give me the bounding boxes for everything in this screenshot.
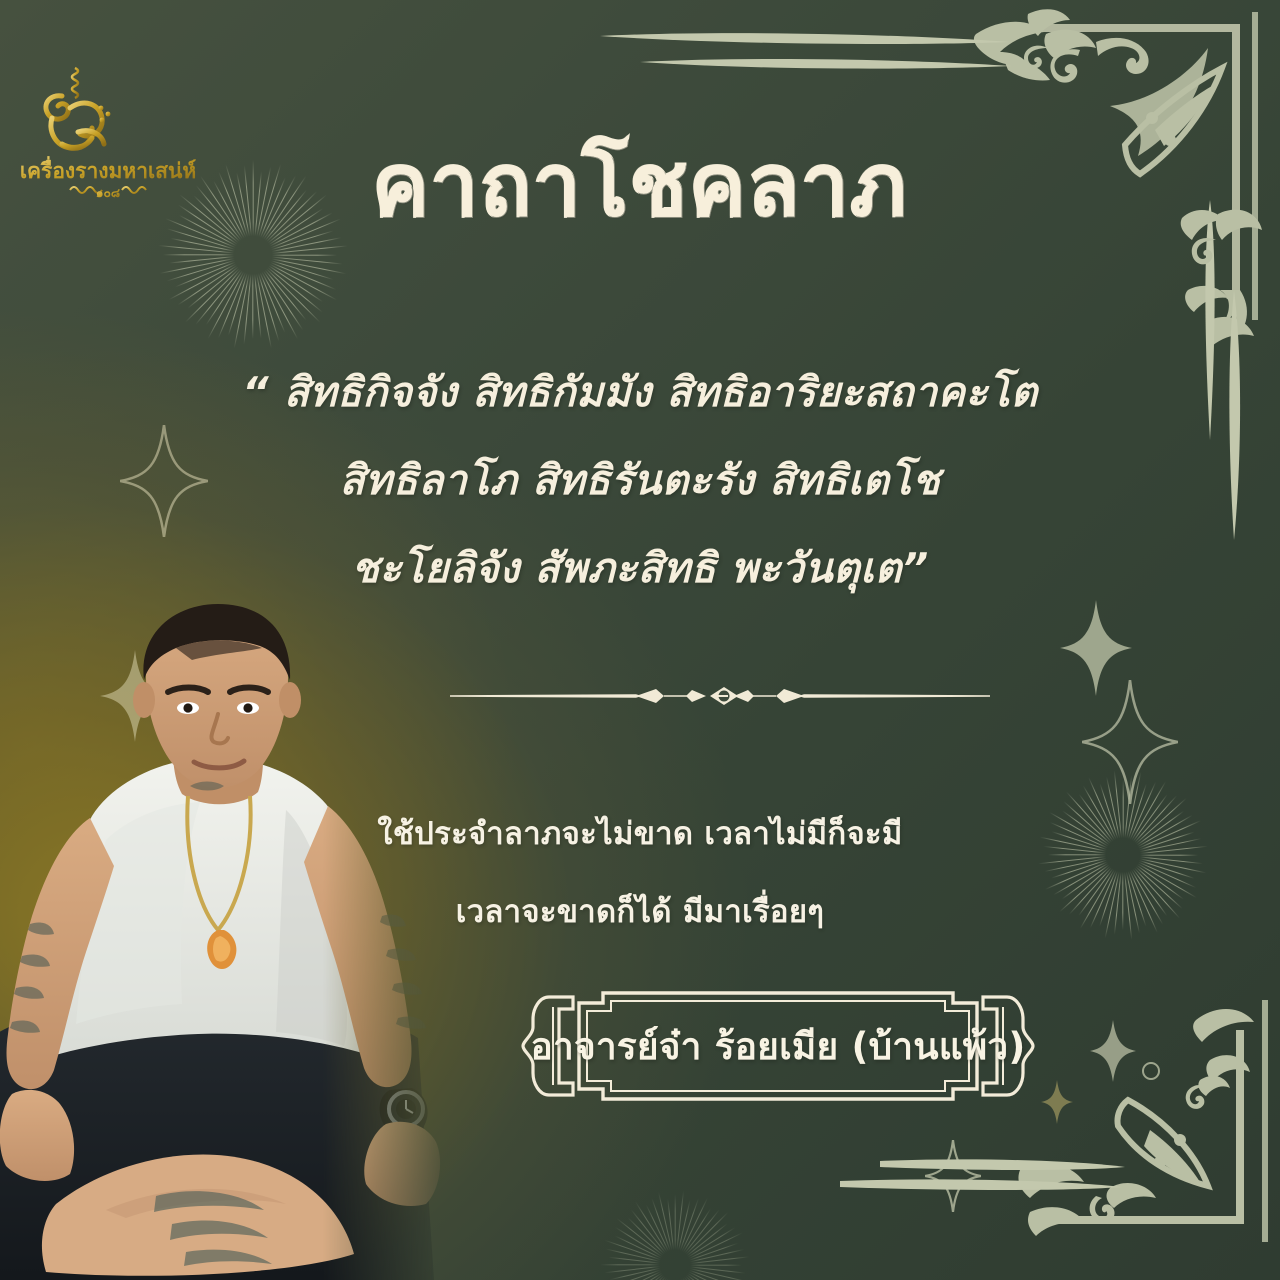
- sunburst-decoration-bottom-left: [600, 1190, 750, 1280]
- nameplate-label: อาจารย์จ๋า ร้อยเมีย (บ้านแพ้ว): [493, 987, 1063, 1105]
- poster-canvas: เครื่องรางมหาเสน่ห์ ๑๐๘ คาถาโชคลาภ “ สิท…: [0, 0, 1280, 1280]
- border-line-top: [600, 22, 1020, 82]
- mantra-line: ชะโยลิจัง สัพภะสิทธิ พะวันตุเต”: [0, 524, 1280, 612]
- page-title-text: คาถาโชคลาภ: [372, 140, 908, 233]
- page-title: คาถาโชคลาภ: [0, 140, 1280, 233]
- sparkle-star-icon: [1082, 680, 1178, 804]
- portrait-photo: [0, 604, 454, 1280]
- nameplate-badge[interactable]: อาจารย์จ๋า ร้อยเมีย (บ้านแพ้ว): [493, 987, 1063, 1105]
- sparkle-star-icon: [1090, 1020, 1136, 1082]
- mantra-line: “ สิทธิกิจจัง สิทธิกัมมัง สิทธิอาริยะสถา…: [0, 348, 1280, 436]
- sparkle-star-icon: [925, 1140, 981, 1212]
- seated-man-illustration: [0, 604, 454, 1280]
- sparkle-ring-icon: [1140, 1060, 1162, 1082]
- diamond-ornament-divider-icon: [440, 676, 1000, 716]
- sparkle-star-icon: [1060, 600, 1132, 696]
- mantra-line: สิทธิลาโภ สิทธิรันตะรัง สิทธิเตโช: [0, 436, 1280, 524]
- thai-yantra-unalome-icon: [46, 30, 110, 148]
- mantra-verse: “ สิทธิกิจจัง สิทธิกัมมัง สิทธิอาริยะสถา…: [0, 348, 1280, 612]
- border-line-bottom: [800, 1155, 1130, 1215]
